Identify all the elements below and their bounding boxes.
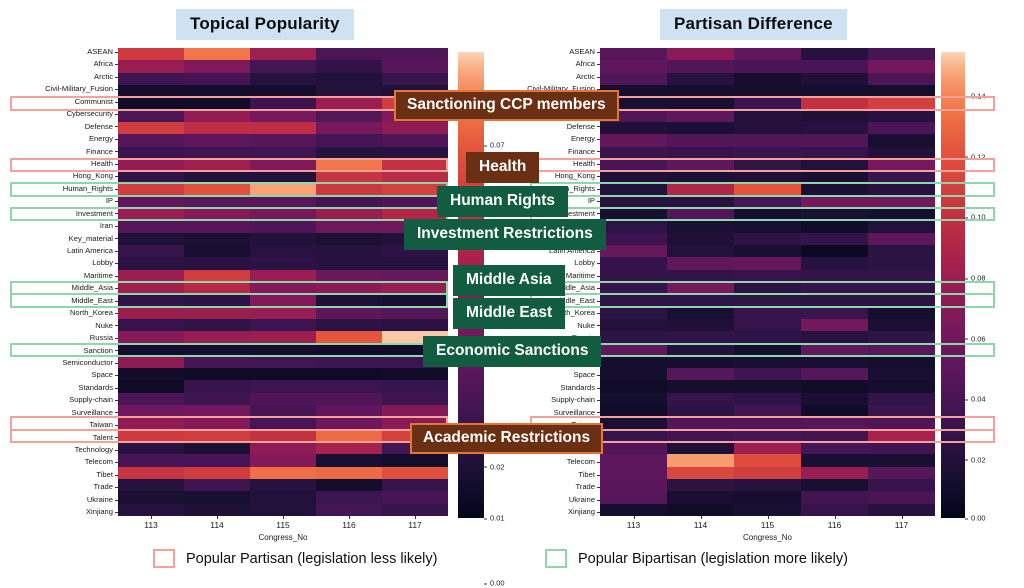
heatmap-cell[interactable] <box>184 479 250 491</box>
heatmap-cell[interactable] <box>801 479 868 491</box>
heatmap-cell[interactable] <box>600 356 667 368</box>
heatmap-cell[interactable] <box>600 491 667 503</box>
heatmap-cell[interactable] <box>382 380 448 392</box>
heatmap-cell[interactable] <box>667 356 734 368</box>
heatmap-cell[interactable] <box>868 504 935 516</box>
heatmap-cell[interactable] <box>868 393 935 405</box>
heatmap-cell[interactable] <box>184 171 250 183</box>
heatmap-cell[interactable] <box>667 294 734 306</box>
heatmap-cell[interactable] <box>382 48 448 60</box>
heatmap-cell[interactable] <box>868 245 935 257</box>
heatmap-cell[interactable] <box>734 233 801 245</box>
heatmap-cell[interactable] <box>184 257 250 269</box>
heatmap-cell[interactable] <box>667 147 734 159</box>
heatmap-cell[interactable] <box>118 467 184 479</box>
heatmap-cell[interactable] <box>250 331 316 343</box>
heatmap-cell[interactable] <box>184 122 250 134</box>
heatmap-cell[interactable] <box>250 196 316 208</box>
heatmap-cell[interactable] <box>118 245 184 257</box>
heatmap-cell[interactable] <box>118 380 184 392</box>
heatmap-cell[interactable] <box>184 307 250 319</box>
heatmap-cell[interactable] <box>667 233 734 245</box>
heatmap-cell[interactable] <box>118 159 184 171</box>
heatmap-cell[interactable] <box>382 491 448 503</box>
heatmap-cell[interactable] <box>316 97 382 109</box>
heatmap-cell[interactable] <box>801 270 868 282</box>
heatmap-cell[interactable] <box>316 159 382 171</box>
heatmap-cell[interactable] <box>868 307 935 319</box>
heatmap-cell[interactable] <box>118 344 184 356</box>
heatmap-cell[interactable] <box>250 73 316 85</box>
heatmap-cell[interactable] <box>868 97 935 109</box>
heatmap-cell[interactable] <box>316 208 382 220</box>
heatmap-cell[interactable] <box>250 380 316 392</box>
heatmap-cell[interactable] <box>600 380 667 392</box>
heatmap-cell[interactable] <box>184 233 250 245</box>
heatmap-cell[interactable] <box>667 48 734 60</box>
heatmap-cell[interactable] <box>118 442 184 454</box>
heatmap-cell[interactable] <box>250 208 316 220</box>
heatmap-cell[interactable] <box>868 467 935 479</box>
heatmap-cell[interactable] <box>316 491 382 503</box>
heatmap-cell[interactable] <box>316 344 382 356</box>
heatmap-cell[interactable] <box>801 331 868 343</box>
heatmap-cell[interactable] <box>734 208 801 220</box>
heatmap-cell[interactable] <box>118 171 184 183</box>
heatmap-cell[interactable] <box>250 430 316 442</box>
heatmap-cell[interactable] <box>250 48 316 60</box>
heatmap-cell[interactable] <box>184 504 250 516</box>
heatmap-cell[interactable] <box>600 417 667 429</box>
heatmap-cell[interactable] <box>734 331 801 343</box>
heatmap-cell[interactable] <box>118 110 184 122</box>
heatmap-cell[interactable] <box>600 319 667 331</box>
heatmap-cell[interactable] <box>868 134 935 146</box>
heatmap-cell[interactable] <box>868 454 935 466</box>
heatmap-cell[interactable] <box>250 467 316 479</box>
heatmap-cell[interactable] <box>316 122 382 134</box>
heatmap-cell[interactable] <box>250 368 316 380</box>
heatmap-cell[interactable] <box>868 85 935 97</box>
heatmap-cell[interactable] <box>734 270 801 282</box>
heatmap-cell[interactable] <box>600 270 667 282</box>
heatmap-cell[interactable] <box>734 380 801 392</box>
heatmap-cell[interactable] <box>118 122 184 134</box>
heatmap-cell[interactable] <box>250 405 316 417</box>
heatmap-cell[interactable] <box>801 294 868 306</box>
heatmap-cell[interactable] <box>868 430 935 442</box>
heatmap-cell[interactable] <box>734 220 801 232</box>
heatmap-cell[interactable] <box>184 417 250 429</box>
heatmap-cell[interactable] <box>801 467 868 479</box>
heatmap-cell[interactable] <box>600 467 667 479</box>
heatmap-cell[interactable] <box>868 282 935 294</box>
heatmap-cell[interactable] <box>382 504 448 516</box>
heatmap-cell[interactable] <box>801 159 868 171</box>
heatmap-cell[interactable] <box>667 159 734 171</box>
heatmap-cell[interactable] <box>600 208 667 220</box>
heatmap-cell[interactable] <box>734 319 801 331</box>
heatmap-cell[interactable] <box>250 344 316 356</box>
heatmap-cell[interactable] <box>801 196 868 208</box>
heatmap-cell[interactable] <box>600 344 667 356</box>
heatmap-cell[interactable] <box>184 282 250 294</box>
heatmap-cell[interactable] <box>382 294 448 306</box>
heatmap-cell[interactable] <box>801 183 868 195</box>
heatmap-cell[interactable] <box>250 442 316 454</box>
heatmap-cell[interactable] <box>316 134 382 146</box>
heatmap-cell[interactable] <box>600 454 667 466</box>
heatmap-cell[interactable] <box>118 220 184 232</box>
heatmap-cell[interactable] <box>184 405 250 417</box>
heatmap-cell[interactable] <box>250 122 316 134</box>
heatmap-cell[interactable] <box>734 159 801 171</box>
heatmap-cell[interactable] <box>667 270 734 282</box>
heatmap-cell[interactable] <box>118 430 184 442</box>
heatmap-cell[interactable] <box>184 368 250 380</box>
heatmap-cell[interactable] <box>868 60 935 72</box>
heatmap-cell[interactable] <box>600 257 667 269</box>
heatmap-cell[interactable] <box>184 147 250 159</box>
heatmap-cell[interactable] <box>316 196 382 208</box>
heatmap-cell[interactable] <box>316 171 382 183</box>
heatmap-cell[interactable] <box>868 183 935 195</box>
heatmap-cell[interactable] <box>316 442 382 454</box>
heatmap-cell[interactable] <box>316 183 382 195</box>
heatmap-cell[interactable] <box>118 60 184 72</box>
heatmap-cell[interactable] <box>868 479 935 491</box>
heatmap-cell[interactable] <box>734 85 801 97</box>
heatmap-cell[interactable] <box>734 442 801 454</box>
heatmap-cell[interactable] <box>316 405 382 417</box>
heatmap-cell[interactable] <box>868 405 935 417</box>
heatmap-cell[interactable] <box>316 257 382 269</box>
heatmap-cell[interactable] <box>382 257 448 269</box>
heatmap-cell[interactable] <box>801 344 868 356</box>
heatmap-cell[interactable] <box>382 307 448 319</box>
heatmap-cell[interactable] <box>734 356 801 368</box>
heatmap-cell[interactable] <box>734 368 801 380</box>
heatmap-cell[interactable] <box>667 491 734 503</box>
heatmap-cell[interactable] <box>801 97 868 109</box>
heatmap-cell[interactable] <box>734 504 801 516</box>
heatmap-cell[interactable] <box>734 73 801 85</box>
heatmap-cell[interactable] <box>118 491 184 503</box>
heatmap-cell[interactable] <box>600 196 667 208</box>
heatmap-cell[interactable] <box>250 220 316 232</box>
heatmap-cell[interactable] <box>118 134 184 146</box>
heatmap-cell[interactable] <box>667 344 734 356</box>
heatmap-cell[interactable] <box>118 307 184 319</box>
heatmap-cell[interactable] <box>801 220 868 232</box>
heatmap-cell[interactable] <box>118 393 184 405</box>
heatmap-cell[interactable] <box>868 196 935 208</box>
heatmap-cell[interactable] <box>734 257 801 269</box>
heatmap-cell[interactable] <box>250 97 316 109</box>
heatmap-cell[interactable] <box>801 417 868 429</box>
heatmap-cell[interactable] <box>382 159 448 171</box>
heatmap-cell[interactable] <box>184 380 250 392</box>
heatmap-cell[interactable] <box>868 417 935 429</box>
heatmap-cell[interactable] <box>667 134 734 146</box>
heatmap-cell[interactable] <box>868 294 935 306</box>
heatmap-cell[interactable] <box>667 307 734 319</box>
heatmap-cell[interactable] <box>184 196 250 208</box>
heatmap-cell[interactable] <box>868 344 935 356</box>
heatmap-cell[interactable] <box>667 171 734 183</box>
heatmap-cell[interactable] <box>734 307 801 319</box>
heatmap-cell[interactable] <box>868 319 935 331</box>
heatmap-cell[interactable] <box>667 220 734 232</box>
heatmap-cell[interactable] <box>316 380 382 392</box>
heatmap-cell[interactable] <box>184 183 250 195</box>
heatmap-cell[interactable] <box>250 307 316 319</box>
heatmap-cell[interactable] <box>250 270 316 282</box>
heatmap-cell[interactable] <box>667 60 734 72</box>
heatmap-cell[interactable] <box>316 220 382 232</box>
heatmap-cell[interactable] <box>118 331 184 343</box>
heatmap-cell[interactable] <box>868 122 935 134</box>
heatmap-cell[interactable] <box>184 393 250 405</box>
heatmap-cell[interactable] <box>667 257 734 269</box>
heatmap-cell[interactable] <box>801 73 868 85</box>
heatmap-cell[interactable] <box>316 467 382 479</box>
heatmap-cell[interactable] <box>868 491 935 503</box>
heatmap-cell[interactable] <box>667 467 734 479</box>
heatmap-cell[interactable] <box>118 97 184 109</box>
heatmap-cell[interactable] <box>316 504 382 516</box>
heatmap-cell[interactable] <box>382 282 448 294</box>
heatmap-cell[interactable] <box>184 220 250 232</box>
heatmap-cell[interactable] <box>250 60 316 72</box>
heatmap-cell[interactable] <box>667 393 734 405</box>
heatmap-cell[interactable] <box>250 504 316 516</box>
heatmap-cell[interactable] <box>801 393 868 405</box>
heatmap-cell[interactable] <box>734 294 801 306</box>
heatmap-cell[interactable] <box>600 233 667 245</box>
heatmap-cell[interactable] <box>667 417 734 429</box>
heatmap-cell[interactable] <box>734 417 801 429</box>
heatmap-cell[interactable] <box>868 208 935 220</box>
heatmap-cell[interactable] <box>600 183 667 195</box>
heatmap-cell[interactable] <box>801 122 868 134</box>
heatmap-cell[interactable] <box>118 479 184 491</box>
heatmap-cell[interactable] <box>184 294 250 306</box>
heatmap-cell[interactable] <box>250 491 316 503</box>
heatmap-cell[interactable] <box>667 454 734 466</box>
heatmap-cell[interactable] <box>184 344 250 356</box>
heatmap-cell[interactable] <box>316 307 382 319</box>
heatmap-cell[interactable] <box>801 147 868 159</box>
heatmap-cell[interactable] <box>316 48 382 60</box>
heatmap-cell[interactable] <box>382 270 448 282</box>
right-heatmap-grid[interactable] <box>600 48 935 516</box>
heatmap-cell[interactable] <box>250 85 316 97</box>
heatmap-cell[interactable] <box>801 491 868 503</box>
heatmap-cell[interactable] <box>600 294 667 306</box>
heatmap-cell[interactable] <box>250 134 316 146</box>
heatmap-cell[interactable] <box>250 319 316 331</box>
heatmap-cell[interactable] <box>316 417 382 429</box>
heatmap-cell[interactable] <box>600 122 667 134</box>
heatmap-cell[interactable] <box>250 393 316 405</box>
heatmap-cell[interactable] <box>118 454 184 466</box>
heatmap-cell[interactable] <box>600 393 667 405</box>
heatmap-cell[interactable] <box>118 208 184 220</box>
heatmap-cell[interactable] <box>868 73 935 85</box>
heatmap-cell[interactable] <box>801 380 868 392</box>
heatmap-cell[interactable] <box>382 479 448 491</box>
heatmap-cell[interactable] <box>316 368 382 380</box>
heatmap-cell[interactable] <box>184 270 250 282</box>
heatmap-cell[interactable] <box>184 491 250 503</box>
heatmap-cell[interactable] <box>801 430 868 442</box>
heatmap-cell[interactable] <box>184 60 250 72</box>
heatmap-cell[interactable] <box>250 233 316 245</box>
heatmap-cell[interactable] <box>600 430 667 442</box>
heatmap-cell[interactable] <box>600 159 667 171</box>
heatmap-cell[interactable] <box>868 356 935 368</box>
heatmap-cell[interactable] <box>734 60 801 72</box>
heatmap-cell[interactable] <box>801 60 868 72</box>
heatmap-cell[interactable] <box>667 73 734 85</box>
heatmap-cell[interactable] <box>184 319 250 331</box>
heatmap-cell[interactable] <box>868 257 935 269</box>
heatmap-cell[interactable] <box>734 479 801 491</box>
heatmap-cell[interactable] <box>382 319 448 331</box>
heatmap-cell[interactable] <box>118 294 184 306</box>
heatmap-cell[interactable] <box>316 110 382 122</box>
heatmap-cell[interactable] <box>600 331 667 343</box>
heatmap-cell[interactable] <box>600 442 667 454</box>
heatmap-cell[interactable] <box>868 233 935 245</box>
heatmap-cell[interactable] <box>734 122 801 134</box>
heatmap-cell[interactable] <box>316 73 382 85</box>
heatmap-cell[interactable] <box>667 405 734 417</box>
heatmap-cell[interactable] <box>667 208 734 220</box>
heatmap-cell[interactable] <box>316 270 382 282</box>
heatmap-cell[interactable] <box>184 97 250 109</box>
heatmap-cell[interactable] <box>734 196 801 208</box>
heatmap-cell[interactable] <box>118 368 184 380</box>
heatmap-cell[interactable] <box>600 368 667 380</box>
heatmap-cell[interactable] <box>316 393 382 405</box>
heatmap-cell[interactable] <box>801 110 868 122</box>
heatmap-cell[interactable] <box>118 356 184 368</box>
heatmap-cell[interactable] <box>250 454 316 466</box>
heatmap-cell[interactable] <box>316 233 382 245</box>
heatmap-cell[interactable] <box>184 110 250 122</box>
heatmap-cell[interactable] <box>600 171 667 183</box>
heatmap-cell[interactable] <box>667 196 734 208</box>
heatmap-cell[interactable] <box>382 147 448 159</box>
heatmap-cell[interactable] <box>667 430 734 442</box>
heatmap-cell[interactable] <box>734 245 801 257</box>
heatmap-cell[interactable] <box>801 504 868 516</box>
heatmap-cell[interactable] <box>316 245 382 257</box>
heatmap-cell[interactable] <box>734 171 801 183</box>
heatmap-cell[interactable] <box>868 331 935 343</box>
heatmap-cell[interactable] <box>801 454 868 466</box>
heatmap-cell[interactable] <box>734 147 801 159</box>
heatmap-cell[interactable] <box>118 257 184 269</box>
heatmap-cell[interactable] <box>118 73 184 85</box>
heatmap-cell[interactable] <box>250 479 316 491</box>
heatmap-cell[interactable] <box>868 270 935 282</box>
heatmap-cell[interactable] <box>801 85 868 97</box>
heatmap-cell[interactable] <box>118 405 184 417</box>
heatmap-cell[interactable] <box>250 159 316 171</box>
heatmap-cell[interactable] <box>801 405 868 417</box>
heatmap-cell[interactable] <box>801 245 868 257</box>
heatmap-cell[interactable] <box>801 171 868 183</box>
heatmap-cell[interactable] <box>801 356 868 368</box>
heatmap-cell[interactable] <box>184 442 250 454</box>
heatmap-cell[interactable] <box>868 220 935 232</box>
heatmap-cell[interactable] <box>667 97 734 109</box>
heatmap-cell[interactable] <box>250 294 316 306</box>
heatmap-cell[interactable] <box>118 504 184 516</box>
heatmap-cell[interactable] <box>382 60 448 72</box>
heatmap-cell[interactable] <box>734 97 801 109</box>
heatmap-cell[interactable] <box>118 417 184 429</box>
heatmap-cell[interactable] <box>734 48 801 60</box>
heatmap-cell[interactable] <box>184 159 250 171</box>
heatmap-cell[interactable] <box>734 430 801 442</box>
heatmap-cell[interactable] <box>184 430 250 442</box>
heatmap-cell[interactable] <box>184 356 250 368</box>
heatmap-cell[interactable] <box>184 245 250 257</box>
heatmap-cell[interactable] <box>801 442 868 454</box>
heatmap-cell[interactable] <box>382 171 448 183</box>
heatmap-cell[interactable] <box>667 183 734 195</box>
heatmap-cell[interactable] <box>667 282 734 294</box>
heatmap-cell[interactable] <box>734 405 801 417</box>
heatmap-cell[interactable] <box>734 344 801 356</box>
heatmap-cell[interactable] <box>868 147 935 159</box>
heatmap-cell[interactable] <box>316 356 382 368</box>
heatmap-cell[interactable] <box>250 356 316 368</box>
heatmap-cell[interactable] <box>382 368 448 380</box>
heatmap-cell[interactable] <box>382 405 448 417</box>
heatmap-cell[interactable] <box>250 110 316 122</box>
heatmap-cell[interactable] <box>667 319 734 331</box>
heatmap-cell[interactable] <box>316 282 382 294</box>
heatmap-cell[interactable] <box>667 122 734 134</box>
heatmap-cell[interactable] <box>667 442 734 454</box>
heatmap-cell[interactable] <box>184 85 250 97</box>
heatmap-cell[interactable] <box>868 110 935 122</box>
heatmap-cell[interactable] <box>734 183 801 195</box>
heatmap-cell[interactable] <box>118 270 184 282</box>
heatmap-cell[interactable] <box>868 442 935 454</box>
heatmap-cell[interactable] <box>184 454 250 466</box>
heatmap-cell[interactable] <box>600 73 667 85</box>
heatmap-cell[interactable] <box>250 147 316 159</box>
heatmap-cell[interactable] <box>801 307 868 319</box>
heatmap-cell[interactable] <box>250 257 316 269</box>
heatmap-cell[interactable] <box>801 257 868 269</box>
heatmap-cell[interactable] <box>382 467 448 479</box>
heatmap-cell[interactable] <box>868 380 935 392</box>
heatmap-cell[interactable] <box>734 467 801 479</box>
heatmap-cell[interactable] <box>667 245 734 257</box>
heatmap-cell[interactable] <box>184 48 250 60</box>
heatmap-cell[interactable] <box>184 73 250 85</box>
heatmap-cell[interactable] <box>868 48 935 60</box>
heatmap-cell[interactable] <box>667 380 734 392</box>
heatmap-cell[interactable] <box>250 417 316 429</box>
